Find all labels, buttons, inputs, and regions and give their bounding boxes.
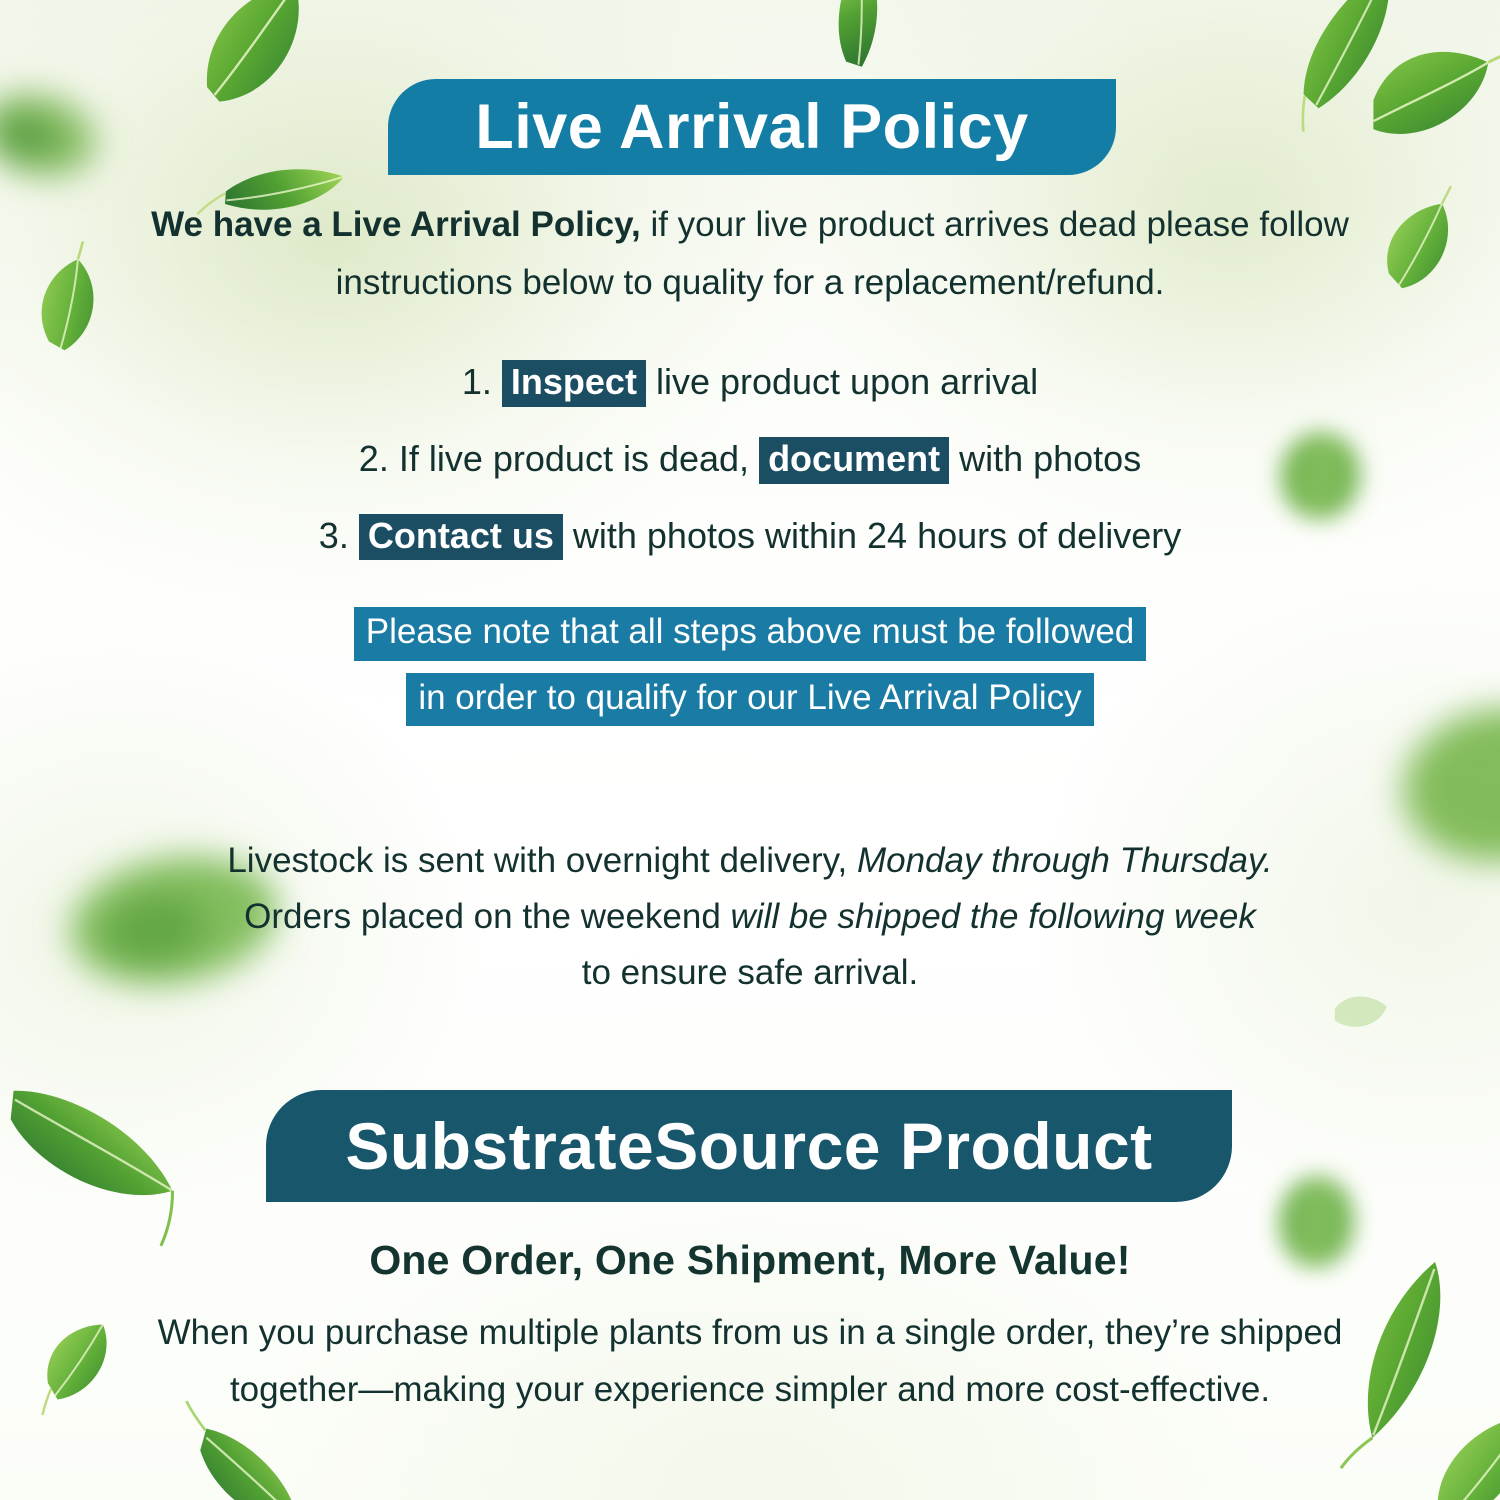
- step-item: 3. Contact us with photos within 24 hour…: [150, 514, 1350, 561]
- step-highlight-inspect: Inspect: [502, 360, 646, 407]
- shipping-line-3: to ensure safe arrival.: [150, 945, 1350, 1001]
- intro-line-2: instructions below to quality for a repl…: [150, 254, 1350, 312]
- step-item: 1. Inspect live product upon arrival: [150, 360, 1350, 407]
- step-text: with photos within 24 hours of delivery: [573, 515, 1181, 556]
- product-subheading: One Order, One Shipment, More Value!: [150, 1237, 1350, 1284]
- shipping-schedule-paragraph: Livestock is sent with overnight deliver…: [150, 833, 1350, 1001]
- steps-list: 1. Inspect live product upon arrival 2. …: [150, 360, 1350, 590]
- live-arrival-policy-title: Live Arrival Policy: [475, 91, 1028, 163]
- live-arrival-policy-banner: Live Arrival Policy: [388, 79, 1116, 175]
- closing-line-1: When you purchase multiple plants from u…: [150, 1305, 1350, 1362]
- substratesource-product-banner: SubstrateSource Product: [266, 1090, 1232, 1202]
- step-text: with photos: [959, 438, 1141, 479]
- step-number: 2.: [359, 438, 389, 479]
- intro-line-1: We have a Live Arrival Policy, if your l…: [150, 196, 1350, 254]
- intro-bold-lead: We have a Live Arrival Policy,: [151, 205, 641, 244]
- step-highlight-contact-us: Contact us: [359, 514, 563, 561]
- shipping-line-2-text: Orders placed on the weekend: [244, 897, 730, 936]
- step-number: 3.: [319, 515, 349, 556]
- substratesource-product-title: SubstrateSource Product: [345, 1108, 1152, 1184]
- policy-note-block: Please note that all steps above must be…: [150, 607, 1350, 738]
- policy-note-line-1: Please note that all steps above must be…: [354, 607, 1147, 661]
- shipping-line-1-italic: Monday through Thursday.: [857, 841, 1273, 880]
- step-item: 2. If live product is dead, document wit…: [150, 437, 1350, 484]
- intro-paragraph: We have a Live Arrival Policy, if your l…: [150, 196, 1350, 312]
- shipping-line-2-italic: will be shipped the following week: [731, 897, 1256, 936]
- product-closing-paragraph: When you purchase multiple plants from u…: [150, 1305, 1350, 1418]
- closing-line-2: together—making your experience simpler …: [150, 1362, 1350, 1419]
- shipping-line-1: Livestock is sent with overnight deliver…: [150, 833, 1350, 889]
- intro-line-1-rest: if your live product arrives dead please…: [641, 205, 1349, 244]
- step-highlight-document: document: [759, 437, 949, 484]
- shipping-line-1-text: Livestock is sent with overnight deliver…: [227, 841, 857, 880]
- policy-note-line-2: in order to qualify for our Live Arrival…: [406, 673, 1093, 727]
- step-text-pre: If live product is dead,: [399, 438, 749, 479]
- shipping-line-2: Orders placed on the weekend will be shi…: [150, 889, 1350, 945]
- step-number: 1.: [462, 361, 492, 402]
- step-text: live product upon arrival: [656, 361, 1038, 402]
- live-arrival-policy-infographic: Live Arrival Policy We have a Live Arriv…: [0, 0, 1500, 1500]
